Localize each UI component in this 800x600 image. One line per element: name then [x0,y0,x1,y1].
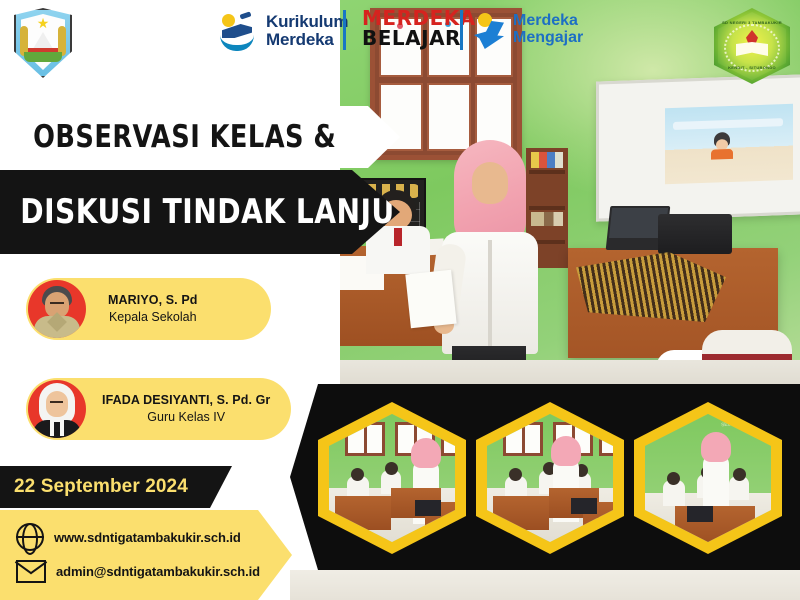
contact-banner: www.sdntigatambakukir.sch.id admin@sdnti… [0,510,292,600]
merdeka-mengajar-line1: Merdeka [513,12,583,29]
merdeka-mengajar-icon [472,9,506,49]
person-role: Guru Kelas IV [102,408,270,426]
avatar-teacher [28,380,86,438]
logo-divider [460,10,463,50]
envelope-icon [16,560,46,583]
school-logo: SD NEGERI 3 TAMBAKUKIR KENDIT - SITUBOND… [714,8,790,84]
school-logo-bottom-text: KENDIT - SITUBONDO [714,65,790,70]
person-card-teacher: IFADA DESIYANTI, S. Pd. Gr Guru Kelas IV [26,378,291,440]
kurikulum-merdeka-logo: Kurikulum Merdeka [218,8,348,54]
kurikulum-merdeka-line1: Kurikulum [266,13,348,31]
page-title-line1: OBSERVASI KELAS & [0,119,336,155]
thumbnail-classroom-2 [476,402,624,554]
held-papers [405,270,456,329]
merdeka-belajar-line2: BELAJAR [362,28,476,49]
merdeka-mengajar-line2: Mengajar [513,29,583,46]
kurikulum-merdeka-icon [218,11,258,51]
thumbnail-classroom-1 [318,402,466,554]
kurikulum-merdeka-line2: Merdeka [266,31,348,49]
person-name: IFADA DESIYANTI, S. Pd. Gr [102,392,270,408]
projected-slide [665,104,793,184]
date-banner: 22 September 2024 [0,466,232,508]
website-text[interactable]: www.sdntigatambakukir.sch.id [54,530,241,545]
person-card-principal: MARIYO, S. Pd Kepala Sekolah [26,278,271,340]
contact-email-row[interactable]: admin@sdntigatambakukir.sch.id [16,554,292,588]
teacher-standing [436,140,546,390]
poster-canvas: ★ Kurikulum Merdeka MERDEKA BELAJAR Merd… [0,0,800,600]
event-date: 22 September 2024 [0,476,188,498]
logo-divider [343,10,346,50]
slide-illustration [711,132,733,159]
person-name: MARIYO, S. Pd [108,292,198,308]
merdeka-mengajar-logo: Merdeka Mengajar [472,9,583,49]
avatar-principal [28,280,86,338]
email-text[interactable]: admin@sdntigatambakukir.sch.id [56,564,260,579]
whiteboard [596,74,800,221]
contact-website-row[interactable]: www.sdntigatambakukir.sch.id [16,520,292,554]
provincial-emblem: ★ [14,8,72,78]
title-banner-line1: OBSERVASI KELAS & [0,106,400,168]
bottom-floor-strip [290,570,800,600]
merdeka-belajar-line1: MERDEKA [362,8,476,28]
slide-bar [673,118,783,130]
title-banner-line2: DISKUSI TINDAK LANJUT [0,170,400,254]
printer [658,214,732,254]
person-role: Kepala Sekolah [108,308,198,326]
merdeka-belajar-logo: MERDEKA BELAJAR [362,8,476,49]
page-title-line2: DISKUSI TINDAK LANJUT [0,192,414,232]
thumbnail-classroom-3: SELAMAT DATANG [634,402,782,554]
globe-icon [16,523,44,551]
thumbnail-strip: SELAMAT DATANG [290,384,800,570]
school-logo-top-text: SD NEGERI 3 TAMBAKUKIR [714,20,790,25]
